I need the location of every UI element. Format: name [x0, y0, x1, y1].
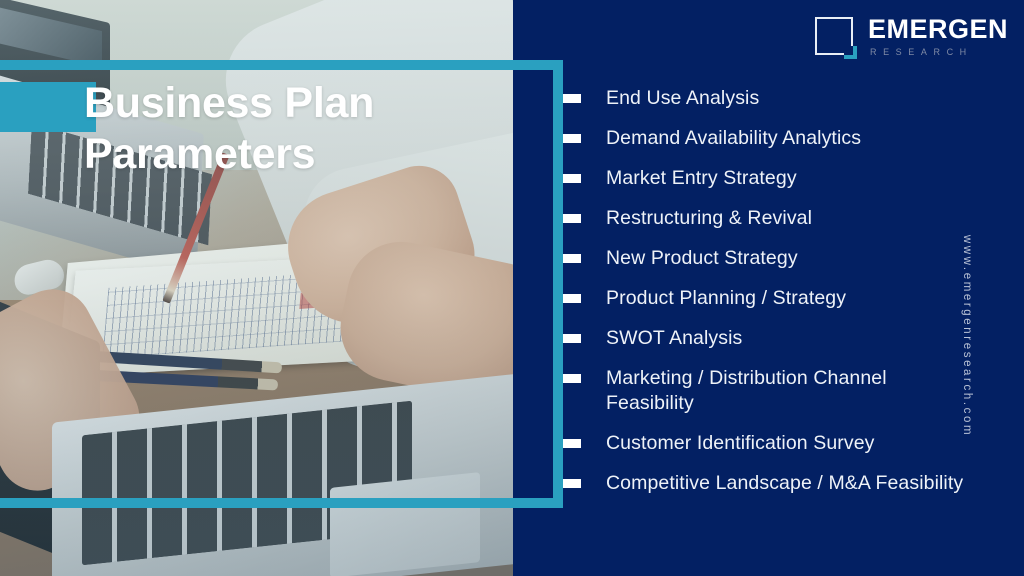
frame-top-bar: [0, 60, 563, 70]
list-item: Product Planning / Strategy: [558, 286, 978, 311]
list-item: Market Entry Strategy: [558, 166, 978, 191]
website-url: www.emergenresearch.com: [961, 191, 973, 481]
list-item: Restructuring & Revival: [558, 206, 978, 231]
page-title: Business Plan Parameters: [84, 78, 504, 179]
list-item-label: SWOT Analysis: [606, 326, 742, 351]
photo-laptop-trackpad: [330, 472, 480, 576]
list-item-label: Marketing / Distribution Channel Feasibi…: [606, 366, 978, 416]
list-item: Competitive Landscape / M&A Feasibility: [558, 471, 978, 496]
square-outline-icon: [815, 17, 855, 57]
logo-name: EMERGEN: [868, 16, 1008, 43]
list-item-label: End Use Analysis: [606, 86, 759, 111]
list-item-label: New Product Strategy: [606, 246, 798, 271]
list-item: Demand Availability Analytics: [558, 126, 978, 151]
list-item-label: Customer Identification Survey: [606, 431, 875, 456]
parameters-list: End Use Analysis Demand Availability Ana…: [558, 86, 978, 495]
frame-bottom-bar: [0, 498, 563, 508]
list-item-label: Restructuring & Revival: [606, 206, 812, 231]
slide-root: EMERGEN RESEARCH End Use Analysis Demand…: [0, 0, 1024, 576]
list-item: New Product Strategy: [558, 246, 978, 271]
list-item-label: Demand Availability Analytics: [606, 126, 861, 151]
list-item: SWOT Analysis: [558, 326, 978, 351]
list-item: End Use Analysis: [558, 86, 978, 111]
list-item-label: Product Planning / Strategy: [606, 286, 846, 311]
logo-subtitle: RESEARCH: [868, 48, 1008, 57]
list-item: Marketing / Distribution Channel Feasibi…: [558, 366, 978, 416]
list-item-label: Market Entry Strategy: [606, 166, 797, 191]
content-panel: EMERGEN RESEARCH End Use Analysis Demand…: [513, 0, 1024, 576]
list-item: Customer Identification Survey: [558, 431, 978, 456]
list-item-label: Competitive Landscape / M&A Feasibility: [606, 471, 963, 496]
brand-logo: EMERGEN RESEARCH: [815, 16, 1008, 57]
title-accent-block: [0, 82, 96, 132]
frame-right-bar: [553, 60, 563, 508]
logo-corner-notch: [844, 46, 853, 55]
logo-wordmark: EMERGEN RESEARCH: [868, 16, 1008, 57]
